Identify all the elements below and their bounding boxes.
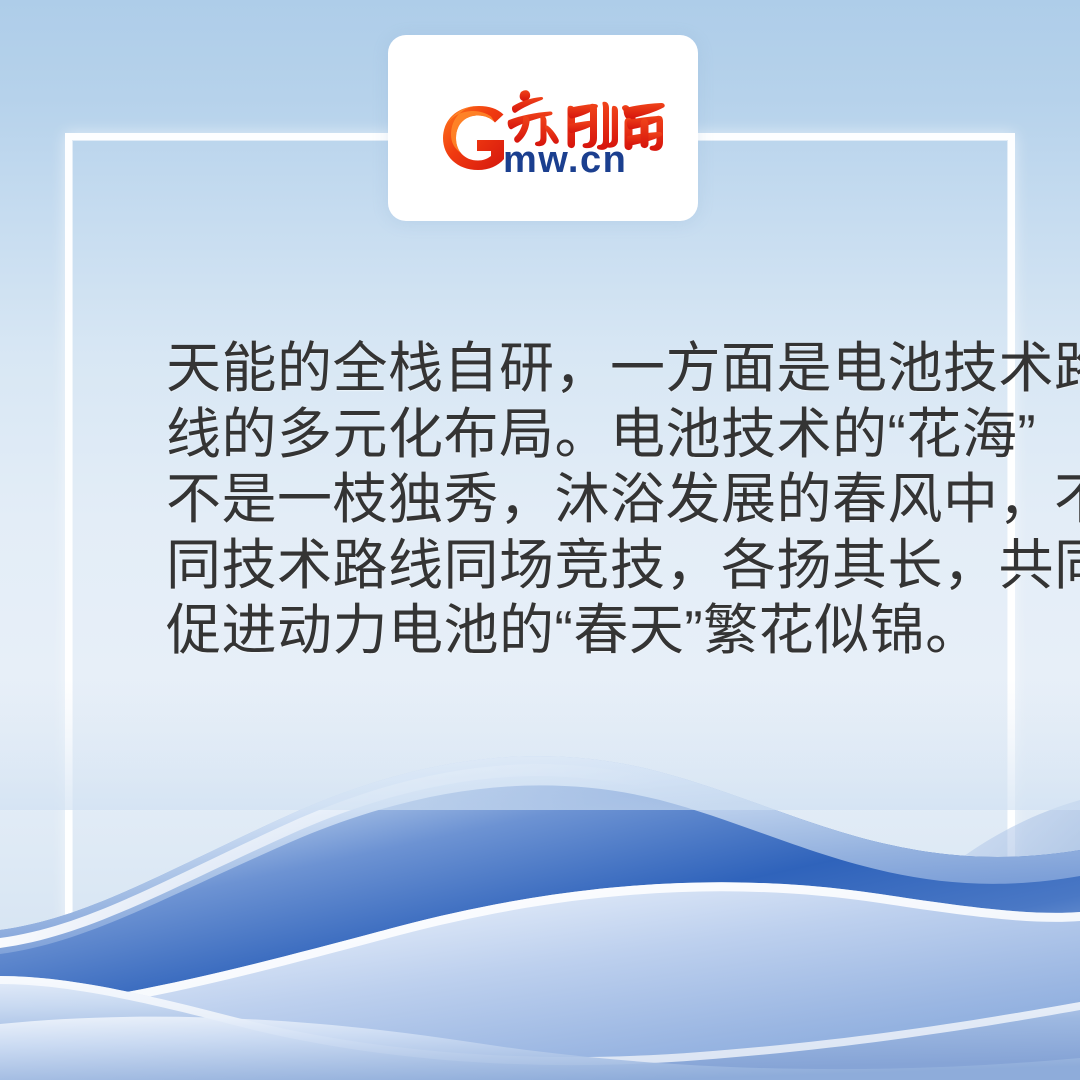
headline-line-3: 不是一枝独秀，沐浴发展的春风中，不 bbox=[166, 467, 956, 533]
headline-line-4: 同技术路线同场竞技，各扬其长，共同 bbox=[166, 533, 956, 599]
headline-line-5: 促进动力电池的“春天”繁花似锦。 bbox=[166, 598, 956, 664]
gmw-logo-icon: mw.cn bbox=[417, 76, 669, 180]
logo-g-letter bbox=[443, 106, 504, 170]
headline-line-1: 天能的全栈自研，一方面是电池技术路 bbox=[166, 336, 956, 402]
poster-canvas: mw.cn 天能的全栈自研，一方面是电池技术路 线的多元化布局。电池技术的“花海… bbox=[0, 0, 1080, 1080]
headline-line-2: 线的多元化布局。电池技术的“花海” bbox=[166, 402, 956, 468]
svg-text:mw.cn: mw.cn bbox=[503, 139, 627, 180]
headline-paragraph: 天能的全栈自研，一方面是电池技术路 线的多元化布局。电池技术的“花海” 不是一枝… bbox=[166, 336, 956, 664]
blue-dune-waves bbox=[0, 680, 1080, 1080]
guangming-wang-logo-card[interactable]: mw.cn bbox=[388, 35, 698, 221]
logo-domain-wordmark: mw.cn bbox=[503, 139, 627, 180]
logo-wrap: mw.cn bbox=[417, 76, 669, 180]
